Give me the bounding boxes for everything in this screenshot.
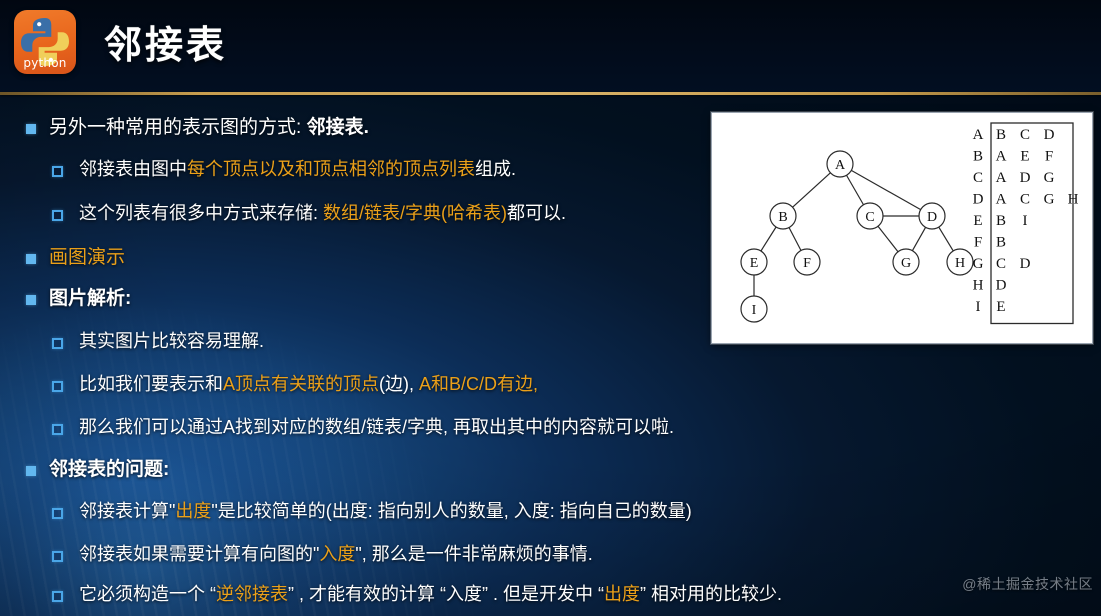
bullet-marker-level2-icon <box>52 591 63 602</box>
header-divider-rule <box>0 92 1101 95</box>
bullet-marker-level1-icon <box>26 466 36 476</box>
bullet-text-segment: 比如我们要表示和 <box>79 374 223 394</box>
graph-edge-BF <box>789 228 801 251</box>
adjacency-row-key: E <box>973 213 982 229</box>
graph-edge-AB <box>793 173 831 207</box>
adjacency-row-value: B <box>996 127 1006 143</box>
graph-node-A: A <box>827 151 853 177</box>
bullet-text-segment: 它必须构造一个 “ <box>79 584 216 604</box>
graph-edge-AC <box>846 175 863 204</box>
page-title: 邻接表 <box>104 14 227 69</box>
bullet-marker-level2-icon <box>52 381 63 392</box>
graph-edge-BE <box>761 227 776 251</box>
bullet-text-segment: A和B/C/D有边, <box>419 374 538 394</box>
adjacency-row-value: I <box>1023 213 1028 229</box>
python-logo-icon: python <box>14 10 76 74</box>
graph-node-D: D <box>919 203 945 229</box>
bullet-marker-level2-icon <box>52 210 63 221</box>
bullet-marker-level2-icon <box>52 166 63 177</box>
bullet-text-segment: 邻接表. <box>307 117 369 138</box>
bullet-text-segment: 组成. <box>475 159 516 179</box>
slide-header: python 邻接表 <box>0 0 1101 94</box>
bullet-text-segment: 那么我们可以通过A找到对应的数组/链表/字典, 再取出其中的内容就可以啦. <box>79 417 674 437</box>
bullet-text-segment: 出度 <box>175 501 211 521</box>
adjacency-row-value: B <box>996 213 1006 229</box>
bullet-text: 邻接表的问题: <box>49 460 169 479</box>
bullet-text: 邻接表由图中每个顶点以及和顶点相邻的顶点列表组成. <box>79 160 516 178</box>
bullet-text-segment: ” , 才能有效的计算 “入度” . 但是开发中 “ <box>288 584 604 604</box>
graph-node-label: D <box>927 210 937 225</box>
adjacency-row-key: G <box>973 256 984 272</box>
bullet-text-segment: 邻接表如果需要计算有向图的" <box>79 544 319 564</box>
graph-node-C: C <box>857 203 883 229</box>
graph-edge-AD <box>851 170 920 209</box>
adjacency-row-key: F <box>974 235 982 251</box>
bullet-text-segment: 都可以. <box>507 203 566 223</box>
bullet-lookup-a: 那么我们可以通过A找到对应的数组/链表/字典, 再取出其中的内容就可以啦. <box>0 418 674 436</box>
graph-node-F: F <box>794 249 820 275</box>
adjacency-row-value: D <box>1020 256 1031 272</box>
adjacency-row-value: D <box>996 278 1007 294</box>
graph-node-label: I <box>752 303 757 318</box>
adjacency-table: ABCDBAEFCADGDACGHEBIFBGCDHDIE <box>973 123 1079 324</box>
bullet-text: 这个列表有很多中方式来存储: 数组/链表/字典(哈希表)都可以. <box>79 204 566 222</box>
adjacency-row-value: C <box>1020 192 1030 208</box>
bullet-text: 另外一种常用的表示图的方式: 邻接表. <box>49 118 369 137</box>
bullet-in-degree: 邻接表如果需要计算有向图的"入度", 那么是一件非常麻烦的事情. <box>0 545 593 563</box>
bullet-text-segment: 画图演示 <box>49 247 125 268</box>
adjacency-row-key: I <box>976 299 981 315</box>
graph-node-B: B <box>770 203 796 229</box>
graph-node-G: G <box>893 249 919 275</box>
bullet-text-segment: 邻接表由图中 <box>79 159 187 179</box>
adjacency-row-key: D <box>973 192 984 208</box>
bullet-marker-level1-icon <box>26 124 36 134</box>
bullet-another-representation: 另外一种常用的表示图的方式: 邻接表. <box>0 118 369 137</box>
bullet-marker-level1-icon <box>26 295 36 305</box>
graph-node-H: H <box>947 249 973 275</box>
bullet-out-degree: 邻接表计算"出度"是比较简单的(出度: 指向别人的数量, 入度: 指向自己的数量… <box>0 502 692 520</box>
python-logo-label: python <box>14 56 76 70</box>
adjacency-row-key: H <box>973 278 984 294</box>
graph-node-label: A <box>835 158 846 173</box>
bullet-problems-heading: 邻接表的问题: <box>0 460 169 479</box>
bullet-reverse-adjacency: 它必须构造一个 “逆邻接表” , 才能有效的计算 “入度” . 但是开发中 “出… <box>0 585 782 603</box>
bullet-text-segment: ", 那么是一件非常麻烦的事情. <box>355 544 592 564</box>
adjacency-row-key: B <box>973 149 983 165</box>
bullet-marker-level2-icon <box>52 551 63 562</box>
adjacency-list-figure: ABCDEFGHIABCDBAEFCADGDACGHEBIFBGCDHDIE <box>711 112 1093 344</box>
adjacency-row-value: F <box>1045 149 1053 165</box>
bullet-text-segment: 这个列表有很多中方式来存储: <box>79 203 323 223</box>
bullet-marker-level2-icon <box>52 338 63 349</box>
graph-node-label: C <box>865 210 874 225</box>
graph-edge-DH <box>939 227 953 251</box>
bullet-text-segment: 数组/链表/字典(哈希表) <box>323 203 507 223</box>
bullet-text-segment: 邻接表计算" <box>79 501 175 521</box>
bullet-text: 它必须构造一个 “逆邻接表” , 才能有效的计算 “入度” . 但是开发中 “出… <box>79 585 782 603</box>
watermark-text: @稀土掘金技术社区 <box>962 574 1093 594</box>
adjacency-row-value: E <box>996 299 1005 315</box>
bullet-text-segment: 入度 <box>319 544 355 564</box>
slide-root: python 邻接表 另外一种常用的表示图的方式: 邻接表.邻接表由图中每个顶点… <box>0 0 1101 616</box>
bullet-marker-level2-icon <box>52 424 63 435</box>
graph-node-label: B <box>778 210 787 225</box>
graph-node-label: E <box>750 256 759 271</box>
adjacency-row-value: E <box>1020 149 1029 165</box>
graph-node-label: H <box>955 256 965 271</box>
bullet-text: 图片解析: <box>49 289 131 308</box>
graph-edge-CG <box>878 226 898 252</box>
bullet-text: 邻接表如果需要计算有向图的"入度", 那么是一件非常麻烦的事情. <box>79 545 593 563</box>
adjacency-row-key: C <box>973 170 983 186</box>
adjacency-row-value: C <box>1020 127 1030 143</box>
graph-nodes: ABCDEFGHI <box>741 151 973 322</box>
bullet-draw-demo: 画图演示 <box>0 248 125 267</box>
adjacency-row-value: A <box>996 192 1007 208</box>
adjacency-row-value: H <box>1068 192 1079 208</box>
adjacency-row-value: D <box>1044 127 1055 143</box>
bullet-text-segment: 每个顶点以及和顶点相邻的顶点列表 <box>187 159 475 179</box>
graph-node-label: G <box>901 256 911 271</box>
bullet-text-segment: 其实图片比较容易理解. <box>79 331 264 351</box>
bullet-text-segment: A顶点有关联的顶点 <box>223 374 379 394</box>
graph-edge-DG <box>912 227 925 250</box>
bullet-marker-level2-icon <box>52 508 63 519</box>
graph-node-label: F <box>803 256 811 271</box>
bullet-text: 其实图片比较容易理解. <box>79 332 264 350</box>
bullet-text-segment: ” 相对用的比较少. <box>640 584 782 604</box>
graph-node-E: E <box>741 249 767 275</box>
bullet-text: 比如我们要表示和A顶点有关联的顶点(边), A和B/C/D有边, <box>79 375 538 393</box>
adjacency-row-value: A <box>996 149 1007 165</box>
bullet-text-segment: 逆邻接表 <box>216 584 288 604</box>
adjacency-row-value: B <box>996 235 1006 251</box>
bullet-text-segment: "是比较简单的(出度: 指向别人的数量, 入度: 指向自己的数量) <box>211 501 691 521</box>
graph-node-I: I <box>741 296 767 322</box>
bullet-text-segment: 另外一种常用的表示图的方式: <box>49 117 307 138</box>
bullet-storage-options: 这个列表有很多中方式来存储: 数组/链表/字典(哈希表)都可以. <box>0 204 566 222</box>
bullet-definition: 邻接表由图中每个顶点以及和顶点相邻的顶点列表组成. <box>0 160 516 178</box>
bullet-marker-level1-icon <box>26 254 36 264</box>
adjacency-row-value: A <box>996 170 1007 186</box>
bullet-text-segment: 出度 <box>604 584 640 604</box>
bullet-text-segment: 邻接表的问题: <box>49 459 169 480</box>
adjacency-row-value: D <box>1020 170 1031 186</box>
bullet-vertex-a-edges: 比如我们要表示和A顶点有关联的顶点(边), A和B/C/D有边, <box>0 375 538 393</box>
bullet-text-segment: (边), <box>379 374 419 394</box>
bullet-text: 那么我们可以通过A找到对应的数组/链表/字典, 再取出其中的内容就可以啦. <box>79 418 674 436</box>
adjacency-row-value: C <box>996 256 1006 272</box>
graph-edges <box>754 170 953 296</box>
bullet-image-analysis: 图片解析: <box>0 289 131 308</box>
bullet-easy-to-understand: 其实图片比较容易理解. <box>0 332 264 350</box>
adjacency-row-value: G <box>1044 170 1055 186</box>
bullet-text-segment: 图片解析: <box>49 288 131 309</box>
bullet-text: 画图演示 <box>49 248 125 267</box>
adjacency-row-key: A <box>973 127 984 143</box>
adjacency-row-value: G <box>1044 192 1055 208</box>
bullet-text: 邻接表计算"出度"是比较简单的(出度: 指向别人的数量, 入度: 指向自己的数量… <box>79 502 692 520</box>
